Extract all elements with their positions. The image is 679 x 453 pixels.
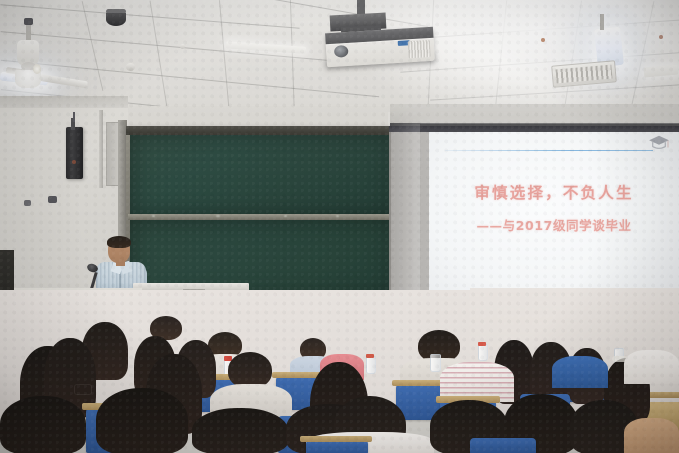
wall-sensor [24,200,31,206]
audience-shoulders [624,418,679,453]
audience-head [228,352,272,388]
projector-vent [408,40,431,58]
chalk-dust [336,215,339,217]
audience-head [0,396,86,453]
ceiling-sensor [180,44,185,49]
chair-frame [300,436,372,442]
wall-conduit [99,110,103,188]
chalk-dust [152,215,155,217]
speaker-indicator [72,160,76,164]
projected-slide: 审慎选择，不负人生 ——与2017级同学谈毕业 [429,132,679,296]
projection-screen-unlit-area [391,132,429,296]
graduation-cap-icon [648,134,670,152]
speaker-wire [73,112,75,122]
blackboard-upper-panel [130,135,394,215]
audience-shoulders [624,350,679,384]
ceiling-sensor [541,38,545,42]
chair-back [470,438,536,453]
lamp-mount [600,14,604,30]
audience-head [192,408,288,453]
ceiling-fan-mount [24,18,33,25]
wall-sensor [48,196,57,203]
dome-camera-icon [106,13,126,26]
audience-head [96,388,188,453]
wall-beam [0,96,128,108]
ceiling-sensor [126,63,135,71]
slide-accent-line [445,150,653,151]
audience-area [0,300,679,453]
water-bottle [478,344,488,361]
pendant-light [33,64,41,74]
lecture-hall-photo: 审慎选择，不负人生 ——与2017级同学谈毕业 郑州轻工业大学 ZHENGZHO… [0,0,679,453]
presenter-hair [107,236,131,248]
vent-slats [555,65,612,84]
slide-subtitle: ——与2017级同学谈毕业 [429,215,679,234]
blackboard-top-rail [126,126,398,135]
ceiling-projector [325,27,435,68]
water-bottle [430,354,441,372]
audience-shoulders [552,356,608,388]
water-bottle [366,356,376,374]
slide-title: 审慎选择，不负人生 [429,181,679,203]
ceiling-sensor [659,35,663,39]
bottle-cap [366,354,374,358]
chalk-dust [216,215,220,217]
wall-speaker [66,127,83,179]
chalk-dust [284,215,287,217]
eyeglasses-icon [74,384,92,395]
projector-lens [334,45,349,58]
bottle-cap [478,342,486,346]
